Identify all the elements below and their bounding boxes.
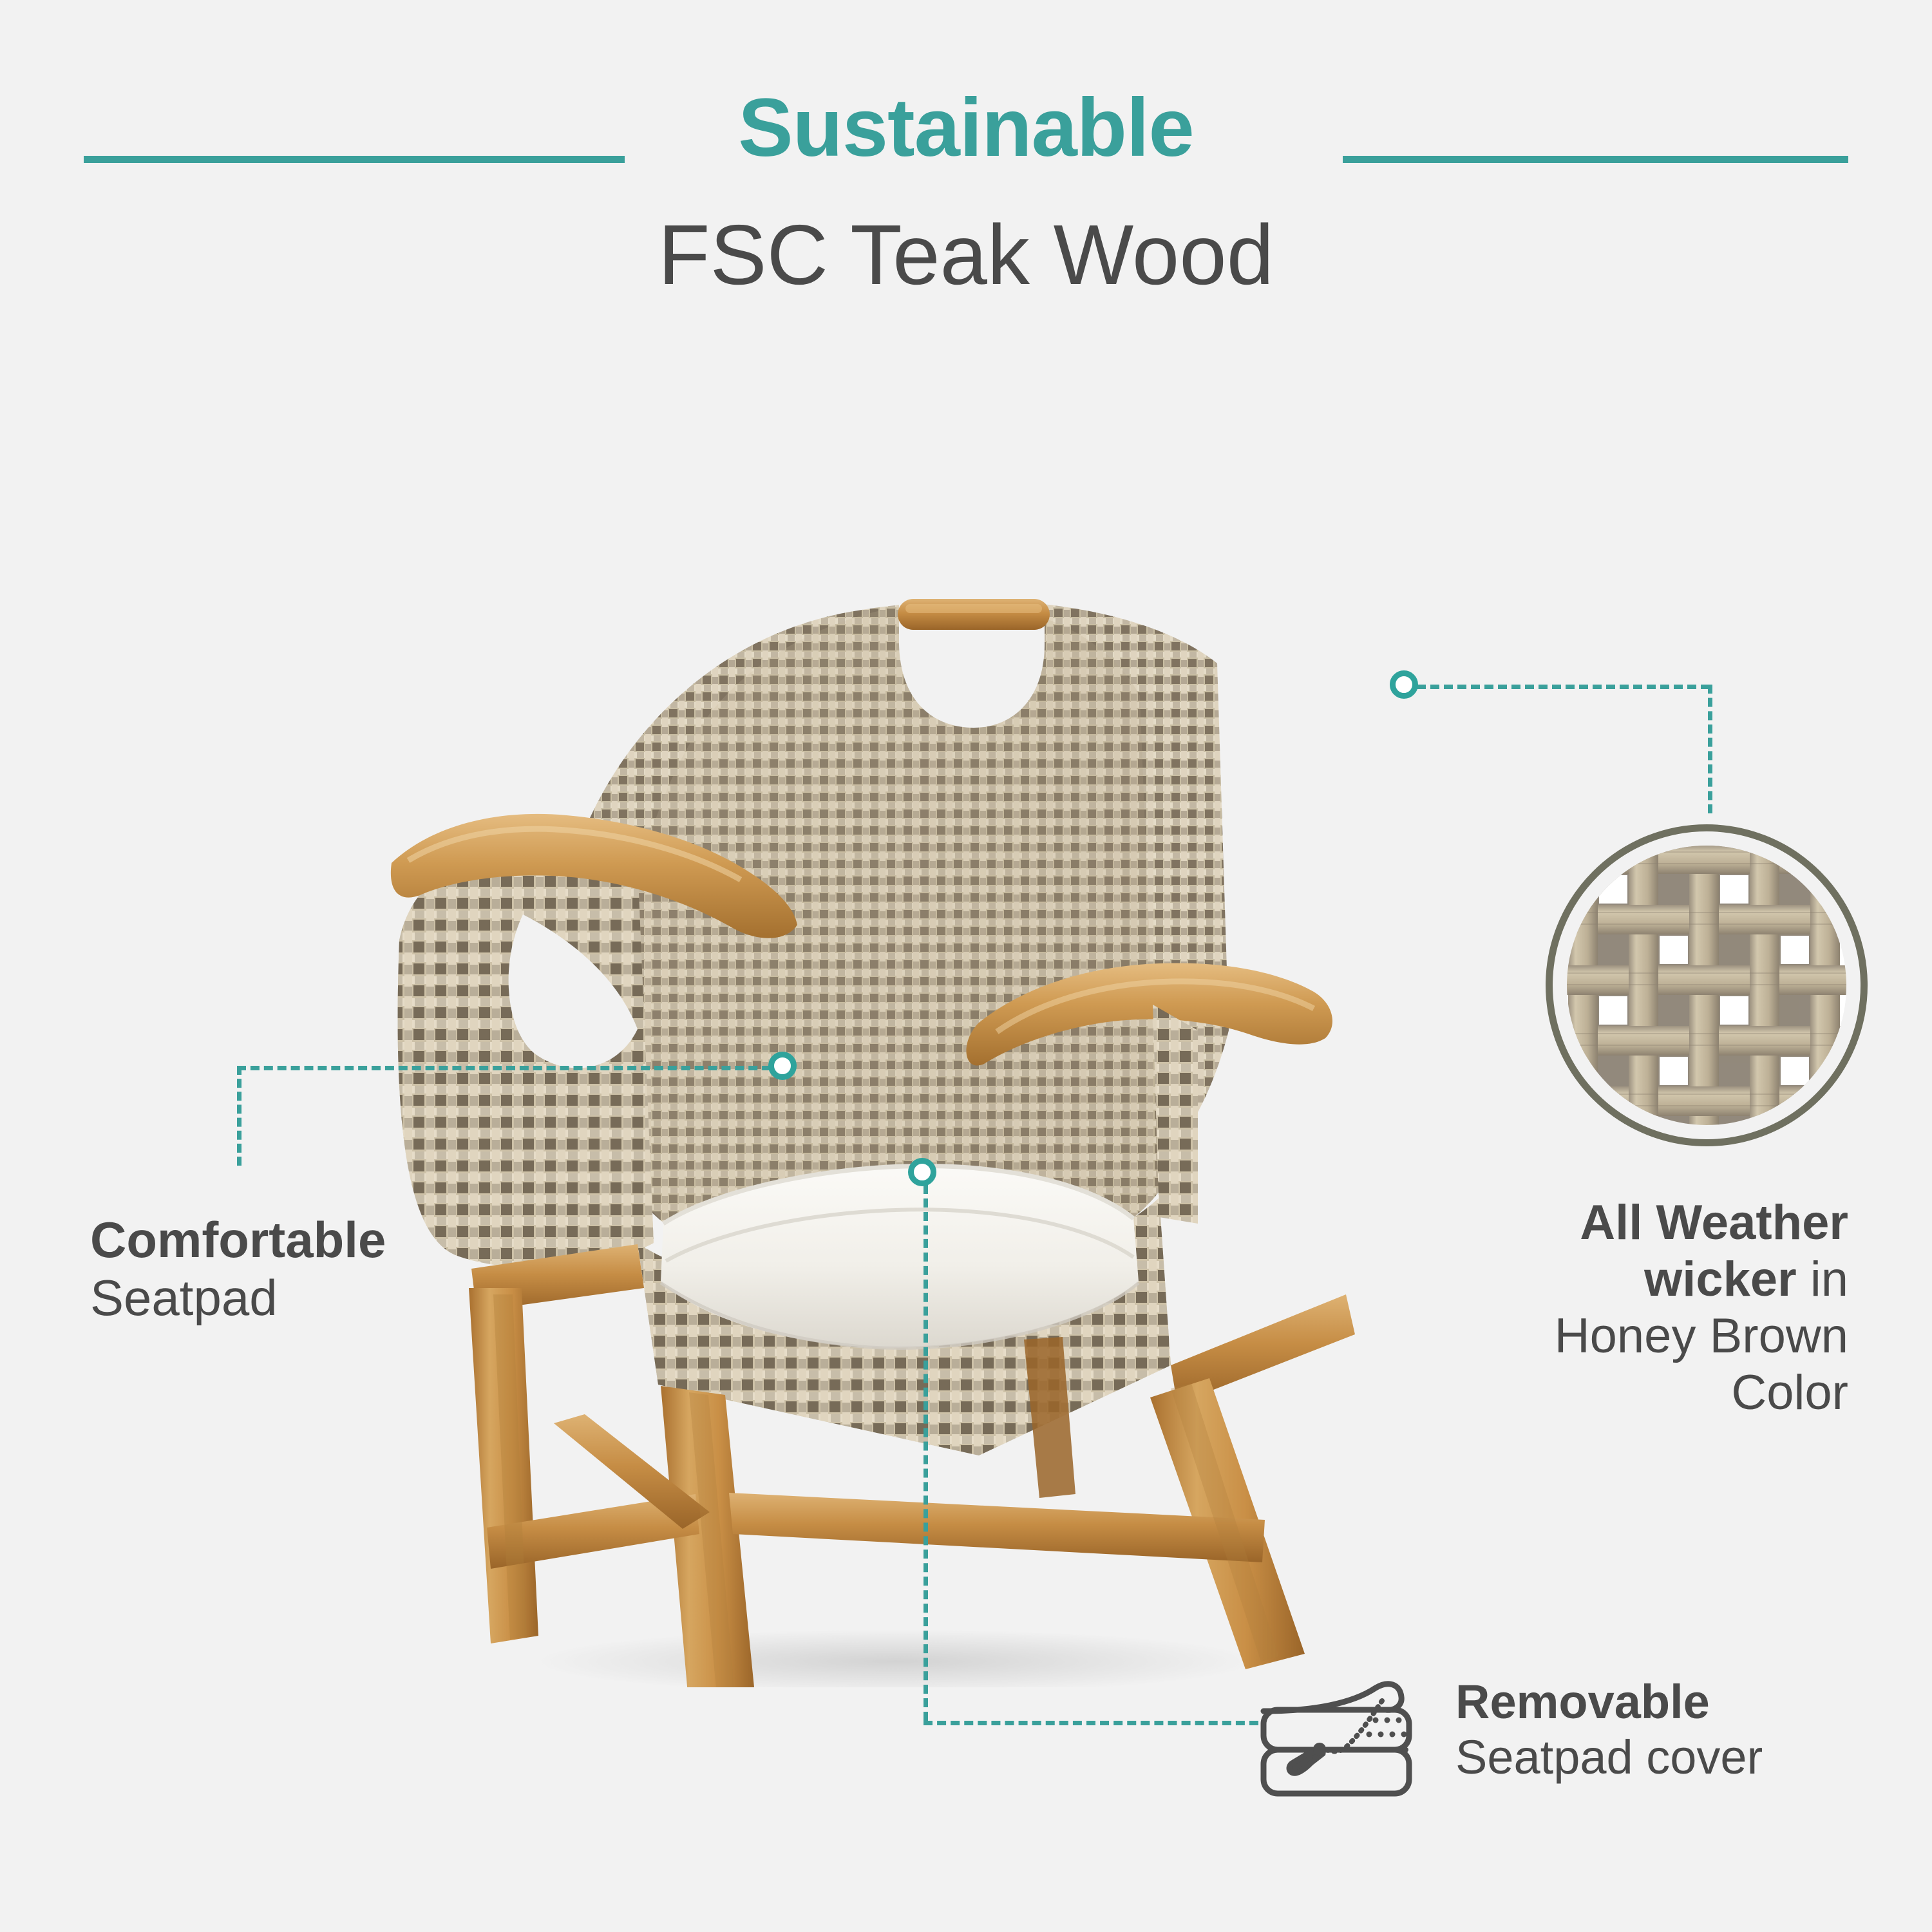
callout-label-all-weather-wicker: All Weather wicker in Honey Brown Color	[1359, 1195, 1848, 1422]
wicker-weave-detail-circle	[1546, 824, 1868, 1146]
callout-bold-wicker: wicker	[1644, 1252, 1797, 1307]
callout-regular-seatpad: Seatpad	[90, 1269, 580, 1327]
callout-bold-removable: Removable	[1455, 1674, 1906, 1730]
callout-line-bottom-vertical	[923, 1185, 928, 1721]
back-handle-bar	[898, 599, 1050, 630]
page-title: FSC Teak Wood	[0, 213, 1932, 298]
callout-dot-removable-seatpad-cover[interactable]	[908, 1158, 936, 1186]
removable-seatpad-cover-icon	[1256, 1678, 1449, 1826]
callout-label-removable-seatpad-cover: Removable Seatpad cover	[1455, 1674, 1906, 1785]
callout-line-all-weather: All Weather	[1359, 1195, 1848, 1251]
callout-line-left-vertical	[237, 1066, 241, 1166]
right-wing	[1153, 1005, 1198, 1224]
infographic-canvas: Sustainable FSC Teak Wood	[0, 0, 1932, 1932]
callout-regular-color: Color	[1359, 1365, 1848, 1421]
callout-line-wicker-in: wicker in	[1359, 1251, 1848, 1308]
callout-line-right-vertical	[1708, 685, 1712, 813]
callout-dot-all-weather-wicker[interactable]	[1390, 670, 1418, 699]
callout-regular-honey-brown: Honey Brown	[1359, 1308, 1848, 1365]
callout-bold-all-weather: All Weather	[1580, 1195, 1848, 1250]
callout-regular-seatpad-cover: Seatpad cover	[1455, 1730, 1906, 1785]
callout-regular-in: in	[1797, 1252, 1848, 1307]
header-eyebrow: Sustainable	[0, 87, 1932, 169]
stretcher-right	[729, 1493, 1265, 1562]
callout-dot-comfortable-seatpad[interactable]	[768, 1052, 797, 1080]
callout-line-bottom-horizontal	[923, 1721, 1258, 1725]
callout-line-right-horizontal	[1417, 685, 1710, 689]
callout-label-comfortable-seatpad: Comfortable Seatpad	[90, 1211, 580, 1327]
detail-circle-ring	[1546, 824, 1868, 1146]
callout-bold-comfortable: Comfortable	[90, 1211, 580, 1269]
callout-line-left-horizontal	[237, 1066, 784, 1070]
